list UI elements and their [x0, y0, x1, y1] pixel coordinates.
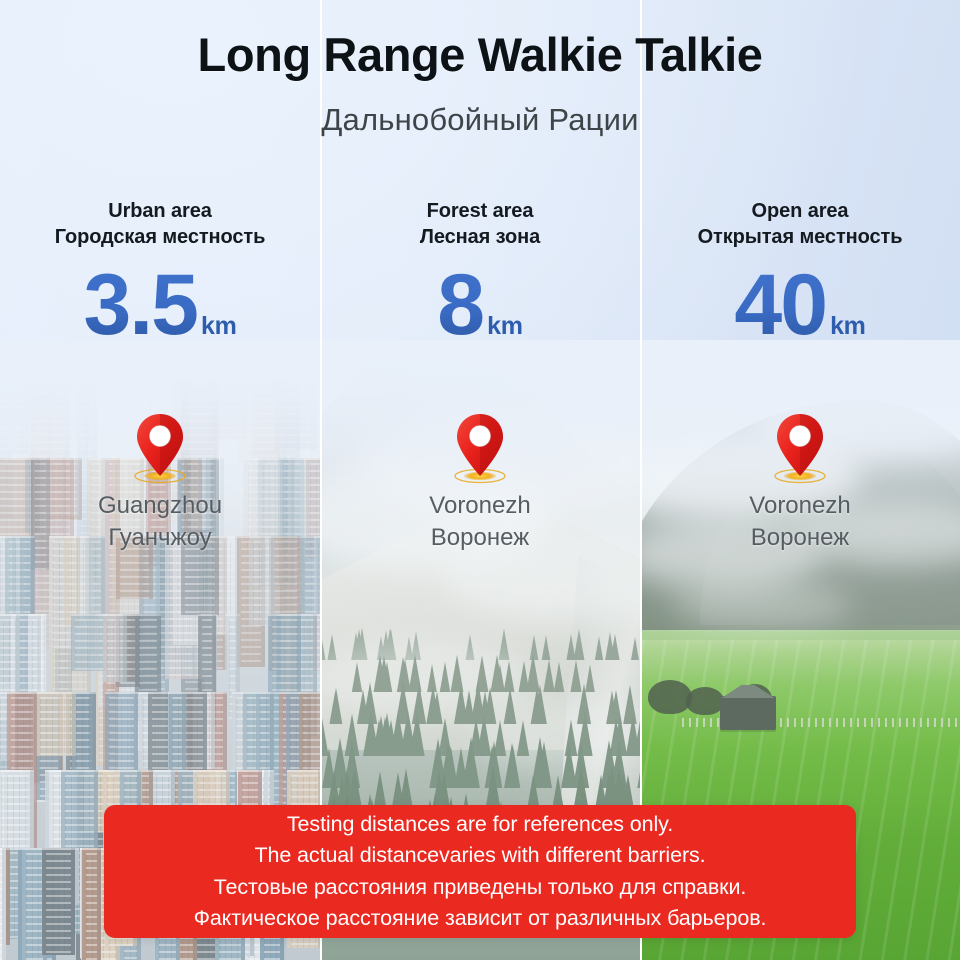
distance-value: 8 — [437, 267, 483, 344]
header: Long Range Walkie Talkie Дальнобойный Ра… — [0, 0, 960, 135]
stat-value-forest: 8 km — [320, 267, 640, 344]
map-pin-icon — [772, 408, 828, 484]
stat-label-en: Open area — [640, 198, 960, 224]
disclaimer-line-1: Testing distances are for references onl… — [287, 809, 673, 840]
disclaimer-line-2: The actual distancevaries with different… — [254, 840, 705, 871]
stat-forest: Forest area Лесная зона 8 km — [320, 198, 640, 344]
stat-label-ru: Лесная зона — [320, 224, 640, 250]
place-forest: Voronezh Воронеж — [320, 408, 640, 554]
place-name-ru: Воронеж — [320, 522, 640, 554]
stat-label-ru: Городская местность — [0, 224, 320, 250]
distance-unit: km — [830, 312, 866, 341]
disclaimer-line-3: Тестовые расстояния приведены только для… — [214, 872, 747, 903]
place-name-open: Voronezh Воронеж — [640, 490, 960, 554]
stat-value-urban: 3.5 km — [0, 267, 320, 344]
place-open: Voronezh Воронеж — [640, 408, 960, 554]
map-pin-icon — [452, 408, 508, 484]
stat-label-en: Urban area — [0, 198, 320, 224]
disclaimer-line-4: Фактическое расстояние зависит от различ… — [194, 903, 767, 934]
product-banner: Long Range Walkie Talkie Дальнобойный Ра… — [0, 0, 960, 960]
place-name-ru: Гуанчжоу — [0, 522, 320, 554]
place-urban: Guangzhou Гуанчжоу — [0, 408, 320, 554]
stat-value-open: 40 km — [640, 267, 960, 344]
stat-label-open: Open area Открытая местность — [640, 198, 960, 251]
disclaimer-banner: Testing distances are for references onl… — [104, 805, 856, 938]
stat-label-en: Forest area — [320, 198, 640, 224]
stat-open: Open area Открытая местность 40 km — [640, 198, 960, 344]
distance-value: 3.5 — [83, 267, 197, 344]
stat-label-urban: Urban area Городская местность — [0, 198, 320, 251]
stat-urban: Urban area Городская местность 3.5 km — [0, 198, 320, 344]
place-name-en: Voronezh — [320, 490, 640, 522]
place-name-en: Guangzhou — [0, 490, 320, 522]
place-name-urban: Guangzhou Гуанчжоу — [0, 490, 320, 554]
place-name-en: Voronezh — [640, 490, 960, 522]
stat-label-forest: Forest area Лесная зона — [320, 198, 640, 251]
distance-unit: km — [487, 312, 523, 341]
place-name-ru: Воронеж — [640, 522, 960, 554]
map-pin-icon — [132, 408, 188, 484]
page-title: Long Range Walkie Talkie — [0, 0, 960, 78]
page-subtitle: Дальнобойный Рации — [0, 78, 960, 135]
stat-label-ru: Открытая местность — [640, 224, 960, 250]
distance-unit: km — [201, 312, 237, 341]
distance-value: 40 — [734, 267, 826, 344]
place-name-forest: Voronezh Воронеж — [320, 490, 640, 554]
